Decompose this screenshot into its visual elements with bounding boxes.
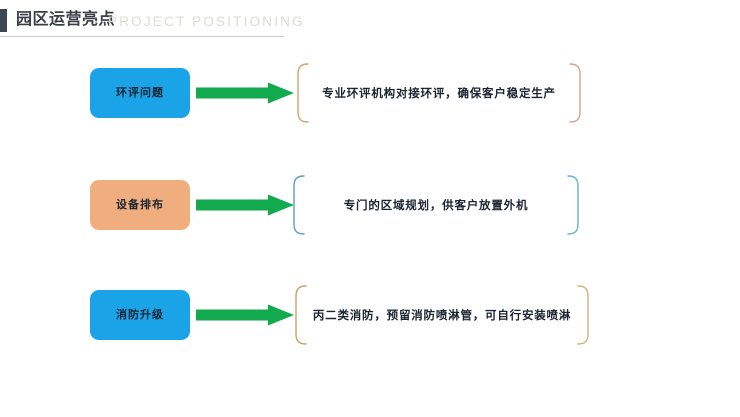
highlight-description: 丙二类消防，预留消防喷淋管，可自行安装喷淋	[313, 307, 571, 323]
bracket-left-icon	[292, 285, 308, 345]
bracket-content: 专业环评机构对接环评，确保客户稳定生产	[310, 63, 568, 123]
bracket-left-icon	[290, 175, 306, 235]
highlight-row: 设备排布 专门的区域规划，供客户放置外机	[0, 175, 740, 235]
arrow-right-icon	[196, 82, 294, 104]
highlight-description: 专门的区域规划，供客户放置外机	[344, 197, 529, 213]
page-header: 园区运营亮点 PROJECT POSITIONING	[0, 0, 740, 42]
highlight-label-box[interactable]: 设备排布	[90, 180, 190, 230]
highlight-label-text: 环评问题	[116, 86, 164, 100]
header-divider	[0, 36, 284, 37]
highlight-label-box[interactable]: 消防升级	[90, 290, 190, 340]
bracket-group: 专门的区域规划，供客户放置外机	[290, 175, 582, 235]
highlight-row: 环评问题 专业环评机构对接环评，确保客户稳定生产	[0, 63, 740, 123]
bracket-group: 专业环评机构对接环评，确保客户稳定生产	[294, 63, 584, 123]
page-subtitle: PROJECT POSITIONING	[108, 12, 305, 31]
arrow-right-icon	[196, 304, 294, 326]
header-accent-bar	[0, 9, 7, 32]
bracket-content: 专门的区域规划，供客户放置外机	[306, 175, 566, 235]
highlight-description: 专业环评机构对接环评，确保客户稳定生产	[322, 85, 556, 101]
arrow-right-icon	[196, 194, 294, 216]
bracket-content: 丙二类消防，预留消防喷淋管，可自行安装喷淋	[308, 285, 576, 345]
highlight-row: 消防升级 丙二类消防，预留消防喷淋管，可自行安装喷淋	[0, 285, 740, 345]
bracket-left-icon	[294, 63, 310, 123]
bracket-right-icon	[566, 175, 582, 235]
highlight-label-text: 消防升级	[116, 308, 164, 322]
bracket-group: 丙二类消防，预留消防喷淋管，可自行安装喷淋	[292, 285, 592, 345]
bracket-right-icon	[576, 285, 592, 345]
page-title: 园区运营亮点	[16, 9, 115, 31]
highlight-label-box[interactable]: 环评问题	[90, 68, 190, 118]
bracket-right-icon	[568, 63, 584, 123]
highlight-label-text: 设备排布	[116, 198, 164, 212]
